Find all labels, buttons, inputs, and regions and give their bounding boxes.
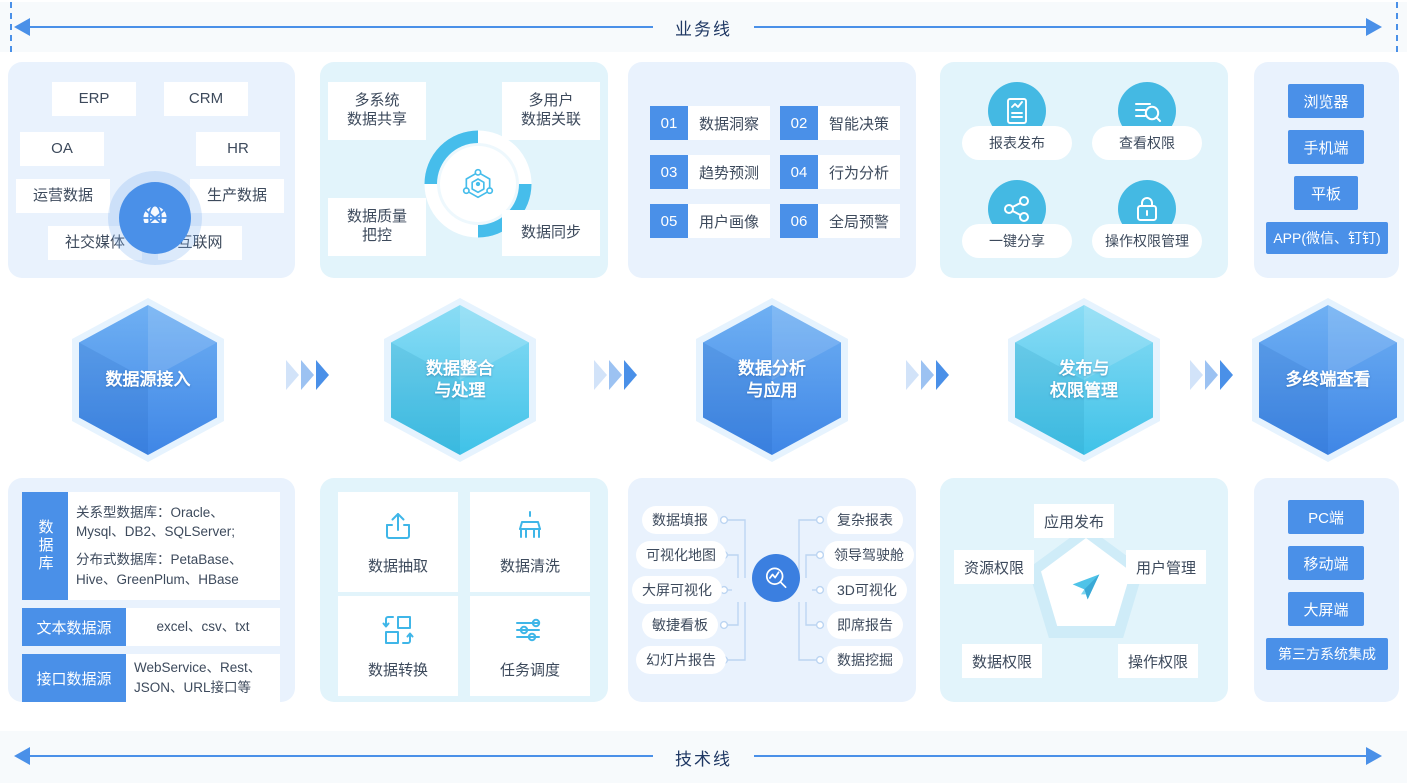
- chip-multi-system-share[interactable]: 多系统 数据共享: [328, 82, 426, 140]
- publish-label: 操作权限管理: [1092, 224, 1202, 258]
- stage-arrow-3: [906, 360, 949, 390]
- db-line: 关系型数据库：Oracle、: [76, 503, 272, 523]
- chip-line: 多用户: [528, 92, 573, 111]
- stage-label-line: 数据源接入: [106, 369, 191, 391]
- analysis-item-01[interactable]: 01 数据洞察: [650, 106, 770, 140]
- chip-crm[interactable]: CRM: [164, 82, 248, 116]
- panel-database-sources: 数据库 关系型数据库：Oracle、 Mysql、DB2、SQLServer; …: [8, 478, 295, 702]
- db-row-api-source[interactable]: 接口数据源 WebService、Rest、 JSON、URL接口等: [22, 654, 280, 702]
- db-line: WebService、Rest、: [134, 658, 272, 678]
- chip-line: 数据质量: [347, 208, 407, 227]
- transform-swap-icon: [381, 613, 415, 651]
- db-row-body: 关系型数据库：Oracle、 Mysql、DB2、SQLServer; 分布式数…: [68, 492, 280, 600]
- app-node-agile-board[interactable]: 敏捷看板: [642, 611, 718, 639]
- chip-data-sync[interactable]: 数据同步: [502, 210, 600, 256]
- chip-line: 把控: [362, 227, 392, 246]
- panel-data-analysis: 01 数据洞察 02 智能决策 03 趋势预测 04 行为分析 05 用户画像 …: [628, 62, 916, 278]
- analysis-item-04[interactable]: 04 行为分析: [780, 155, 900, 189]
- db-row-tag: 数据库: [22, 492, 68, 600]
- stage-label-line: 与应用: [738, 380, 806, 402]
- panel-etl: 数据抽取 数据清洗 数据转换: [320, 478, 608, 702]
- chevron-icon: [286, 360, 299, 390]
- chevron-icon: [624, 360, 637, 390]
- app-node-3d-visual[interactable]: 3D可视化: [827, 576, 907, 604]
- panel-publish-permission: 报表发布 查看权限 一键分享: [940, 62, 1228, 278]
- terminal-browser[interactable]: 浏览器: [1288, 84, 1364, 118]
- etl-card-transform[interactable]: 数据转换: [338, 596, 458, 696]
- panel-permissions: 应用发布 资源权限 用户管理 数据权限 操作权限: [940, 478, 1228, 702]
- analysis-label: 行为分析: [818, 155, 900, 189]
- db-line: excel、csv、txt: [156, 617, 249, 637]
- stage-data-integration[interactable]: 数据整合 与处理: [384, 298, 536, 462]
- analysis-label: 智能决策: [818, 106, 900, 140]
- sliders-schedule-icon: [513, 613, 547, 651]
- stage-arrow-4: [1190, 360, 1233, 390]
- db-line: 分布式数据库：PetaBase、: [76, 550, 272, 570]
- stage-label: 数据整合 与处理: [384, 298, 536, 462]
- chevron-icon: [316, 360, 329, 390]
- stage-arrow-2: [594, 360, 637, 390]
- client-bigscreen[interactable]: 大屏端: [1288, 592, 1364, 626]
- db-spacer: [76, 542, 272, 550]
- app-node-adhoc-report[interactable]: 即席报告: [827, 611, 903, 639]
- app-node-data-fill[interactable]: 数据填报: [642, 506, 718, 534]
- analysis-item-05[interactable]: 05 用户画像: [650, 204, 770, 238]
- etl-card-clean[interactable]: 数据清洗: [470, 492, 590, 592]
- stage-label: 数据源接入: [72, 298, 224, 462]
- perm-node-resource[interactable]: 资源权限: [954, 550, 1034, 584]
- chevron-icon: [594, 360, 607, 390]
- analytics-search-icon: [752, 554, 800, 602]
- stage-label-line: 权限管理: [1050, 380, 1118, 402]
- panel-analysis-applications: 数据填报 可视化地图 大屏可视化 敏捷看板 幻灯片报告 复杂报表 领导驾驶舱 3…: [628, 478, 916, 702]
- chevron-icon: [1205, 360, 1218, 390]
- stage-label-line: 发布与: [1050, 358, 1118, 380]
- band-arrow-left-icon: [14, 18, 30, 36]
- stage-label: 多终端查看: [1252, 298, 1404, 462]
- app-node-visual-map[interactable]: 可视化地图: [636, 541, 726, 569]
- db-row-tag: 文本数据源: [22, 608, 126, 646]
- analysis-index: 03: [650, 155, 688, 189]
- stage-label-line: 多终端查看: [1286, 369, 1371, 391]
- perm-node-data[interactable]: 数据权限: [962, 644, 1042, 678]
- db-row-text-source[interactable]: 文本数据源 excel、csv、txt: [22, 608, 280, 646]
- panel-terminals: 浏览器 手机端 平板 APP(微信、钉钉): [1254, 62, 1399, 278]
- chip-line: 数据共享: [347, 111, 407, 130]
- etl-card-label: 数据清洗: [500, 555, 560, 576]
- db-line: Mysql、DB2、SQLServer;: [76, 522, 272, 542]
- panel-clients: PC端 移动端 大屏端 第三方系统集成: [1254, 478, 1399, 702]
- chevron-icon: [301, 360, 314, 390]
- db-row-database[interactable]: 数据库 关系型数据库：Oracle、 Mysql、DB2、SQLServer; …: [22, 492, 280, 600]
- diagram-canvas: 业务线 ERP CRM OA HR 运营数据 生产数据 社交媒体 互联网: [0, 0, 1407, 783]
- chip-line: 多系统: [354, 92, 399, 111]
- analysis-index: 02: [780, 106, 818, 140]
- band-dash-left: [10, 2, 12, 52]
- chip-hr[interactable]: HR: [196, 132, 280, 166]
- band-arrow-right-icon: [1366, 747, 1382, 765]
- app-node-slide-report[interactable]: 幻灯片报告: [636, 646, 726, 674]
- analysis-label: 趋势预测: [688, 155, 770, 189]
- analysis-index: 04: [780, 155, 818, 189]
- etl-card-schedule[interactable]: 任务调度: [470, 596, 590, 696]
- db-line: JSON、URL接口等: [134, 678, 272, 698]
- analysis-index: 06: [780, 204, 818, 238]
- stage-publish-permission[interactable]: 发布与 权限管理: [1008, 298, 1160, 462]
- technology-line-label: 技术线: [653, 745, 754, 770]
- analysis-index: 01: [650, 106, 688, 140]
- client-mobile[interactable]: 移动端: [1288, 546, 1364, 580]
- perm-node-app-publish[interactable]: 应用发布: [1034, 504, 1114, 538]
- perm-node-operation[interactable]: 操作权限: [1118, 644, 1198, 678]
- chip-oa[interactable]: OA: [20, 132, 104, 166]
- publish-label: 报表发布: [962, 126, 1072, 160]
- chip-multi-user-relation[interactable]: 多用户 数据关联: [502, 82, 600, 140]
- etl-card-label: 数据转换: [368, 659, 428, 680]
- client-third-party[interactable]: 第三方系统集成: [1266, 638, 1388, 670]
- analysis-item-03[interactable]: 03 趋势预测: [650, 155, 770, 189]
- chevron-icon: [906, 360, 919, 390]
- band-arrow-right-icon: [1366, 18, 1382, 36]
- chip-data-quality[interactable]: 数据质量 把控: [328, 198, 426, 256]
- etl-card-extract[interactable]: 数据抽取: [338, 492, 458, 592]
- business-line-band: 业务线: [0, 2, 1407, 52]
- stage-label-line: 数据分析: [738, 358, 806, 380]
- etl-card-label: 任务调度: [500, 659, 560, 680]
- analysis-label: 用户画像: [688, 204, 770, 238]
- publish-item-report[interactable]: 报表发布: [962, 82, 1072, 160]
- publish-label: 查看权限: [1092, 126, 1202, 160]
- band-dash-right: [1396, 2, 1398, 52]
- perm-node-user-mgmt[interactable]: 用户管理: [1126, 550, 1206, 584]
- chevron-icon: [1190, 360, 1203, 390]
- chip-production-data[interactable]: 生产数据: [190, 179, 284, 213]
- stage-multi-terminal-view[interactable]: 多终端查看: [1252, 298, 1404, 462]
- stage-data-analysis[interactable]: 数据分析 与应用: [696, 298, 848, 462]
- technology-line-band: 技术线: [0, 731, 1407, 783]
- chip-operation-data[interactable]: 运营数据: [16, 179, 110, 213]
- business-line-label: 业务线: [653, 15, 754, 40]
- panel-data-integration: 多系统 数据共享 多用户 数据关联 数据质量 把控 数据同步: [320, 62, 608, 278]
- stage-label-line: 数据整合: [426, 358, 494, 380]
- broom-clean-icon: [513, 509, 547, 547]
- analysis-index: 05: [650, 204, 688, 238]
- stage-label: 数据分析 与应用: [696, 298, 848, 462]
- upload-box-icon: [381, 509, 415, 547]
- chevron-icon: [609, 360, 622, 390]
- publish-item-operation-permission[interactable]: 操作权限管理: [1092, 180, 1202, 258]
- terminal-tablet[interactable]: 平板: [1294, 176, 1358, 210]
- publish-label: 一键分享: [962, 224, 1072, 258]
- app-node-data-mining[interactable]: 数据挖掘: [827, 646, 903, 674]
- db-row-body: excel、csv、txt: [126, 608, 280, 646]
- terminal-mobile[interactable]: 手机端: [1288, 130, 1364, 164]
- analysis-label: 数据洞察: [688, 106, 770, 140]
- analysis-label: 全局预警: [818, 204, 900, 238]
- db-row-body: WebService、Rest、 JSON、URL接口等: [126, 654, 280, 702]
- stage-data-source-ingest[interactable]: 数据源接入: [72, 298, 224, 462]
- stage-label: 发布与 权限管理: [1008, 298, 1160, 462]
- publish-item-view-permission[interactable]: 查看权限: [1092, 82, 1202, 160]
- app-node-leader-cockpit[interactable]: 领导驾驶舱: [824, 541, 914, 569]
- stage-label-line: 与处理: [426, 380, 494, 402]
- band-arrow-left-icon: [14, 747, 30, 765]
- stage-arrow-1: [286, 360, 329, 390]
- chevron-icon: [921, 360, 934, 390]
- chevron-icon: [1220, 360, 1233, 390]
- app-node-complex-report[interactable]: 复杂报表: [827, 506, 903, 534]
- chip-line: 数据关联: [521, 111, 581, 130]
- db-row-tag: 接口数据源: [22, 654, 126, 702]
- etl-card-label: 数据抽取: [368, 555, 428, 576]
- analysis-item-06[interactable]: 06 全局预警: [780, 204, 900, 238]
- app-node-big-screen[interactable]: 大屏可视化: [632, 576, 722, 604]
- db-line: Hive、GreenPlum、HBase: [76, 570, 272, 590]
- publish-item-share[interactable]: 一键分享: [962, 180, 1072, 258]
- chevron-icon: [936, 360, 949, 390]
- network-globe-icon: [119, 182, 191, 254]
- client-pc[interactable]: PC端: [1288, 500, 1364, 534]
- terminal-app[interactable]: APP(微信、钉钉): [1266, 222, 1388, 254]
- chip-erp[interactable]: ERP: [52, 82, 136, 116]
- panel-data-sources: ERP CRM OA HR 运营数据 生产数据 社交媒体 互联网: [8, 62, 295, 278]
- analysis-item-02[interactable]: 02 智能决策: [780, 106, 900, 140]
